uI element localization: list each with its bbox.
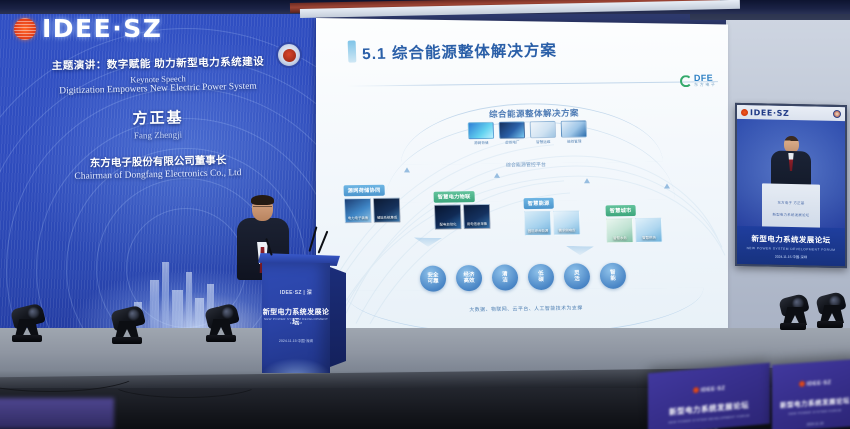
stage-light-fixture (112, 302, 146, 344)
card-group: 源网荷储协同 电力电子装备 储能系统集成 (343, 178, 400, 223)
benefit-line2: 能 (610, 276, 616, 282)
podium-date: 2024.11.15 中国·深圳 (262, 339, 330, 344)
monitor-logo-text: IDEE·SZ (750, 108, 789, 118)
card-tile-label: 配电自动化 (435, 221, 460, 226)
idee-mark-icon (14, 18, 36, 40)
card-tile-label: 智慧水务 (607, 235, 632, 240)
benefit-circle-row: 安全 可靠 经济 高效 清 洁 低 碳 (358, 262, 689, 293)
benefit-circle: 智 能 (600, 263, 627, 289)
flow-arrow-up (664, 183, 670, 188)
foreground-seat-panel: IDEE·SZ 新型电力系统发展论坛 NEW POWER SYSTEM FORU… (772, 359, 850, 429)
thumbnail-label: 虚拟电厂 (499, 140, 525, 145)
emblem-icon (833, 110, 841, 118)
benefit-circle: 安全 可靠 (420, 265, 447, 291)
monitor-speaker-figure (771, 136, 811, 186)
monitor-podium-line2: 新型电力系统发展论坛 (762, 211, 820, 217)
stage-light-fixture (12, 300, 46, 342)
control-room-icon (499, 121, 526, 138)
card-group: 智慧城市 智慧水务 智慧供热 (605, 199, 662, 244)
idee-mark-icon (693, 387, 699, 394)
panel-logo: IDEE·SZ (693, 385, 726, 395)
live-feed-monitor: IDEE·SZ 东方电子 方正基 新型电力系统发展论坛 新型电力系统发展论坛 N… (735, 103, 847, 268)
light-lens-icon (126, 307, 142, 323)
card-tile-label: 园区综合能源 (525, 228, 550, 233)
podium-logo: IDEE·SZ | 深 (262, 289, 330, 296)
speaker-torso (771, 151, 811, 186)
thumbnail-label: 源网荷储 (468, 141, 494, 146)
card-group-tag: 智慧能源 (524, 198, 554, 209)
card-tile: 需求侧响应 (553, 210, 581, 235)
light-base (206, 335, 236, 342)
card-tile-label: 储能系统集成 (374, 214, 399, 219)
benefit-line2: 高效 (464, 278, 475, 284)
benefit-circle: 清 洁 (492, 264, 519, 290)
monitor-feed: IDEE·SZ 东方电子 方正基 新型电力系统发展论坛 新型电力系统发展论坛 N… (737, 105, 845, 266)
light-lens-icon (26, 305, 42, 321)
foreground-blur-panel (0, 398, 114, 429)
benefit-circle: 灵 活 (564, 263, 591, 289)
benefit-line2: 可靠 (428, 279, 439, 285)
flow-arrow-up (494, 173, 500, 178)
flow-arrow-up (404, 167, 410, 172)
monitor-podium: 东方电子 方正基 新型电力系统发展论坛 (762, 183, 820, 230)
monitor-podium-line1: 东方电子 方正基 (762, 199, 820, 205)
speaker-hair (251, 195, 274, 205)
stage-light-fixture (817, 290, 847, 328)
stage-cable (110, 368, 260, 398)
monitor-banner-subtitle: NEW POWER SYSTEM DEVELOPMENT FORUM (737, 246, 845, 252)
card-tile: 智慧供热 (635, 218, 663, 243)
benefit-line2: 碳 (538, 277, 544, 283)
card-tile: 园区综合能源 (524, 211, 552, 236)
slide-diagram: 综合能源整体解决方案 源网荷储 虚拟电厂 智慧运维 (316, 18, 728, 334)
thumbnail-item: 智慧运维 (530, 121, 557, 145)
card-group-tag: 智慧电力物联 (434, 191, 475, 203)
monitor-header-bar: IDEE·SZ (737, 105, 845, 121)
projection-slide-screen: 5.1 综合能源整体解决方案 DFE 东方电子 综合能源整体解决方案 源网荷储 (316, 18, 728, 334)
foreground-seat-panel: IDEE·SZ 新型电力系统发展论坛 NEW POWER SYSTEM DEVE… (648, 363, 770, 429)
card-tile-label: 需求侧响应 (554, 227, 579, 232)
monitor-lower-third: 新型电力系统发展论坛 NEW POWER SYSTEM DEVELOPMENT … (737, 226, 845, 266)
podium-side-face (330, 267, 346, 367)
thumbnail-item: 源网荷储 (468, 122, 495, 146)
panel-logo: IDEE·SZ (799, 379, 832, 388)
podium-front-face: IDEE·SZ | 深 新型电力系统发展论坛 NEW POWER SYSTEM … (262, 263, 330, 373)
light-lens-icon (220, 305, 236, 321)
card-tile: 智慧水务 (606, 218, 634, 243)
thumbnail-label: 能效管理 (561, 139, 587, 144)
stage-light-fixture (780, 292, 810, 330)
monitor-logo: IDEE·SZ (741, 107, 789, 117)
card-tile-label: 用电信息采集 (464, 221, 489, 226)
conference-stage-scene: IDEE·SZ 主题演讲：数字赋能 助力新型电力系统建设 Keynote Spe… (0, 0, 850, 429)
card-tile: 储能系统集成 (373, 197, 401, 222)
diagram-thumbnail-row: 源网荷储 虚拟电厂 智慧运维 能效管理 (468, 120, 588, 146)
monitor-icon (561, 120, 588, 137)
card-tile: 配电自动化 (434, 204, 462, 229)
benefit-line2: 洁 (502, 277, 508, 283)
card-tile-label: 电力电子装备 (345, 215, 370, 220)
light-base (817, 321, 843, 328)
monitor-banner-title: 新型电力系统发展论坛 (737, 233, 845, 246)
speaker-podium: IDEE·SZ | 深 新型电力系统发展论坛 NEW POWER SYSTEM … (262, 253, 346, 373)
light-base (780, 323, 806, 330)
card-tile-label: 智慧供热 (636, 235, 661, 240)
flow-arrow-down (566, 246, 594, 255)
benefit-line2: 活 (574, 276, 580, 282)
card-group: 智慧电力物联 配电自动化 用电信息采集 (433, 185, 490, 230)
idee-sz-logo: IDEE·SZ (14, 16, 162, 41)
card-tile: 用电信息采集 (463, 204, 491, 229)
thumbnail-label: 智慧运维 (530, 140, 556, 145)
podium-subtitle: NEW POWER SYSTEM DEVELOPMENT FORUM (262, 317, 330, 325)
flow-arrow-up (584, 178, 590, 183)
keynote-text-block: 主题演讲：数字赋能 助力新型电力系统建设 Keynote Speech Digi… (0, 56, 316, 180)
card-group: 智慧能源 园区综合能源 需求侧响应 (523, 191, 580, 236)
stage-light-fixture (206, 300, 240, 342)
card-group-tag: 智慧城市 (606, 205, 636, 216)
idee-mark-icon (799, 381, 805, 387)
card-group-tag: 源网荷储协同 (344, 185, 385, 197)
monitor-banner-date: 2024.11.15 中国·深圳 (737, 253, 845, 260)
light-base (12, 335, 42, 342)
thumbnail-item: 虚拟电厂 (499, 121, 526, 145)
speaker-glasses-icon (253, 206, 272, 210)
idee-mark-icon (741, 108, 748, 115)
idee-logo-text: IDEE·SZ (42, 16, 162, 41)
podium-skyline-glow (262, 339, 330, 373)
energy-screen-icon (468, 122, 495, 139)
thumbnail-item: 能效管理 (561, 120, 588, 144)
card-tile: 电力电子装备 (344, 198, 372, 223)
benefit-circle: 低 碳 (528, 264, 555, 290)
light-base (112, 337, 142, 344)
benefit-circle: 经济 高效 (456, 265, 483, 291)
operations-icon (530, 121, 557, 138)
flow-arrow-down (414, 238, 442, 247)
